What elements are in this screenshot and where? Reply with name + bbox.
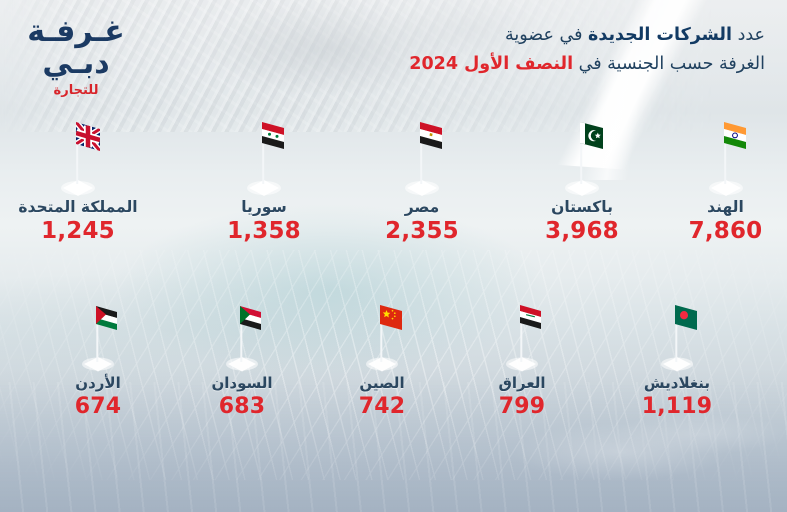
- country-name: مصر: [344, 198, 500, 217]
- syria-flag-icon: [232, 118, 296, 196]
- country-stat-jordan[interactable]: الأردن 674: [28, 300, 168, 419]
- bangladesh-flag-icon: [646, 300, 708, 372]
- flag-row-top: المملكة المتحدة 1,245 سوريا 1,358: [0, 118, 787, 268]
- country-value: 1,358: [186, 218, 342, 244]
- jordan-flag-icon: [67, 300, 129, 372]
- country-value: 3,968: [504, 218, 660, 244]
- flag-stand: [452, 300, 592, 372]
- country-value: 799: [452, 394, 592, 419]
- country-value: 1,245: [0, 218, 156, 244]
- logo-wordmark: غـرفـة دبـي: [0, 16, 152, 79]
- country-name: المملكة المتحدة: [0, 198, 156, 217]
- infographic-canvas: غـرفـة دبـي للتجارة عدد الشركات الجديدة …: [0, 0, 787, 512]
- flag-stand: [0, 118, 156, 196]
- header: غـرفـة دبـي للتجارة عدد الشركات الجديدة …: [0, 0, 787, 118]
- country-name: السودان: [172, 374, 312, 393]
- country-stat-bangladesh[interactable]: بنغلاديش 1,119: [602, 300, 752, 419]
- iraq-flag-icon: [491, 300, 553, 372]
- china-flag-icon: [351, 300, 413, 372]
- country-value: 742: [312, 394, 452, 419]
- flag-row-bottom: الأردن 674 السودان 683: [0, 300, 787, 460]
- flag-stand: [344, 118, 500, 196]
- country-stat-sudan[interactable]: السودان 683: [172, 300, 312, 419]
- page-title: عدد الشركات الجديدة في عضوية الغرفة حسب …: [345, 22, 765, 78]
- country-stat-iraq[interactable]: العراق 799: [452, 300, 592, 419]
- country-name: الأردن: [28, 374, 168, 393]
- flag-stand: [602, 300, 752, 372]
- country-name: الصين: [312, 374, 452, 393]
- flag-stand: [28, 300, 168, 372]
- country-name: العراق: [452, 374, 592, 393]
- dubai-chamber-logo: غـرفـة دبـي للتجارة: [0, 16, 152, 98]
- title-part-suffix: في عضوية: [505, 25, 588, 45]
- country-value: 7,860: [664, 218, 787, 244]
- egypt-flag-icon: [390, 118, 454, 196]
- title-part-prefix: عدد: [732, 25, 765, 45]
- country-value: 1,119: [602, 394, 752, 419]
- country-value: 2,355: [344, 218, 500, 244]
- country-stat-pakistan[interactable]: باكستان 3,968: [504, 118, 660, 245]
- india-flag-icon: [694, 118, 758, 196]
- country-stat-united-kingdom[interactable]: المملكة المتحدة 1,245: [0, 118, 156, 245]
- country-stat-india[interactable]: الهند 7,860: [664, 118, 787, 245]
- title-line-2: الغرفة حسب الجنسية في النصف الأول 2024: [345, 51, 765, 77]
- country-value: 683: [172, 394, 312, 419]
- country-stat-syria[interactable]: سوريا 1,358: [186, 118, 342, 245]
- title-line-1: عدد الشركات الجديدة في عضوية: [345, 22, 765, 48]
- country-name: سوريا: [186, 198, 342, 217]
- united-kingdom-flag-icon: [46, 118, 110, 196]
- flag-stand: [504, 118, 660, 196]
- title-part-emphasis-navy: الشركات الجديدة: [588, 25, 732, 45]
- flag-stand: [172, 300, 312, 372]
- pakistan-flag-icon: [550, 118, 614, 196]
- country-stat-china[interactable]: الصين 742: [312, 300, 452, 419]
- flag-stand: [312, 300, 452, 372]
- title-part-prefix-2: الغرفة حسب الجنسية في: [573, 54, 765, 74]
- country-name: بنغلاديش: [602, 374, 752, 393]
- title-part-emphasis-red: النصف الأول 2024: [409, 54, 573, 74]
- flag-stand: [664, 118, 787, 196]
- country-name: الهند: [664, 198, 787, 217]
- country-value: 674: [28, 394, 168, 419]
- logo-tagline: للتجارة: [0, 83, 152, 98]
- country-name: باكستان: [504, 198, 660, 217]
- sudan-flag-icon: [211, 300, 273, 372]
- country-stat-egypt[interactable]: مصر 2,355: [344, 118, 500, 245]
- flag-stand: [186, 118, 342, 196]
